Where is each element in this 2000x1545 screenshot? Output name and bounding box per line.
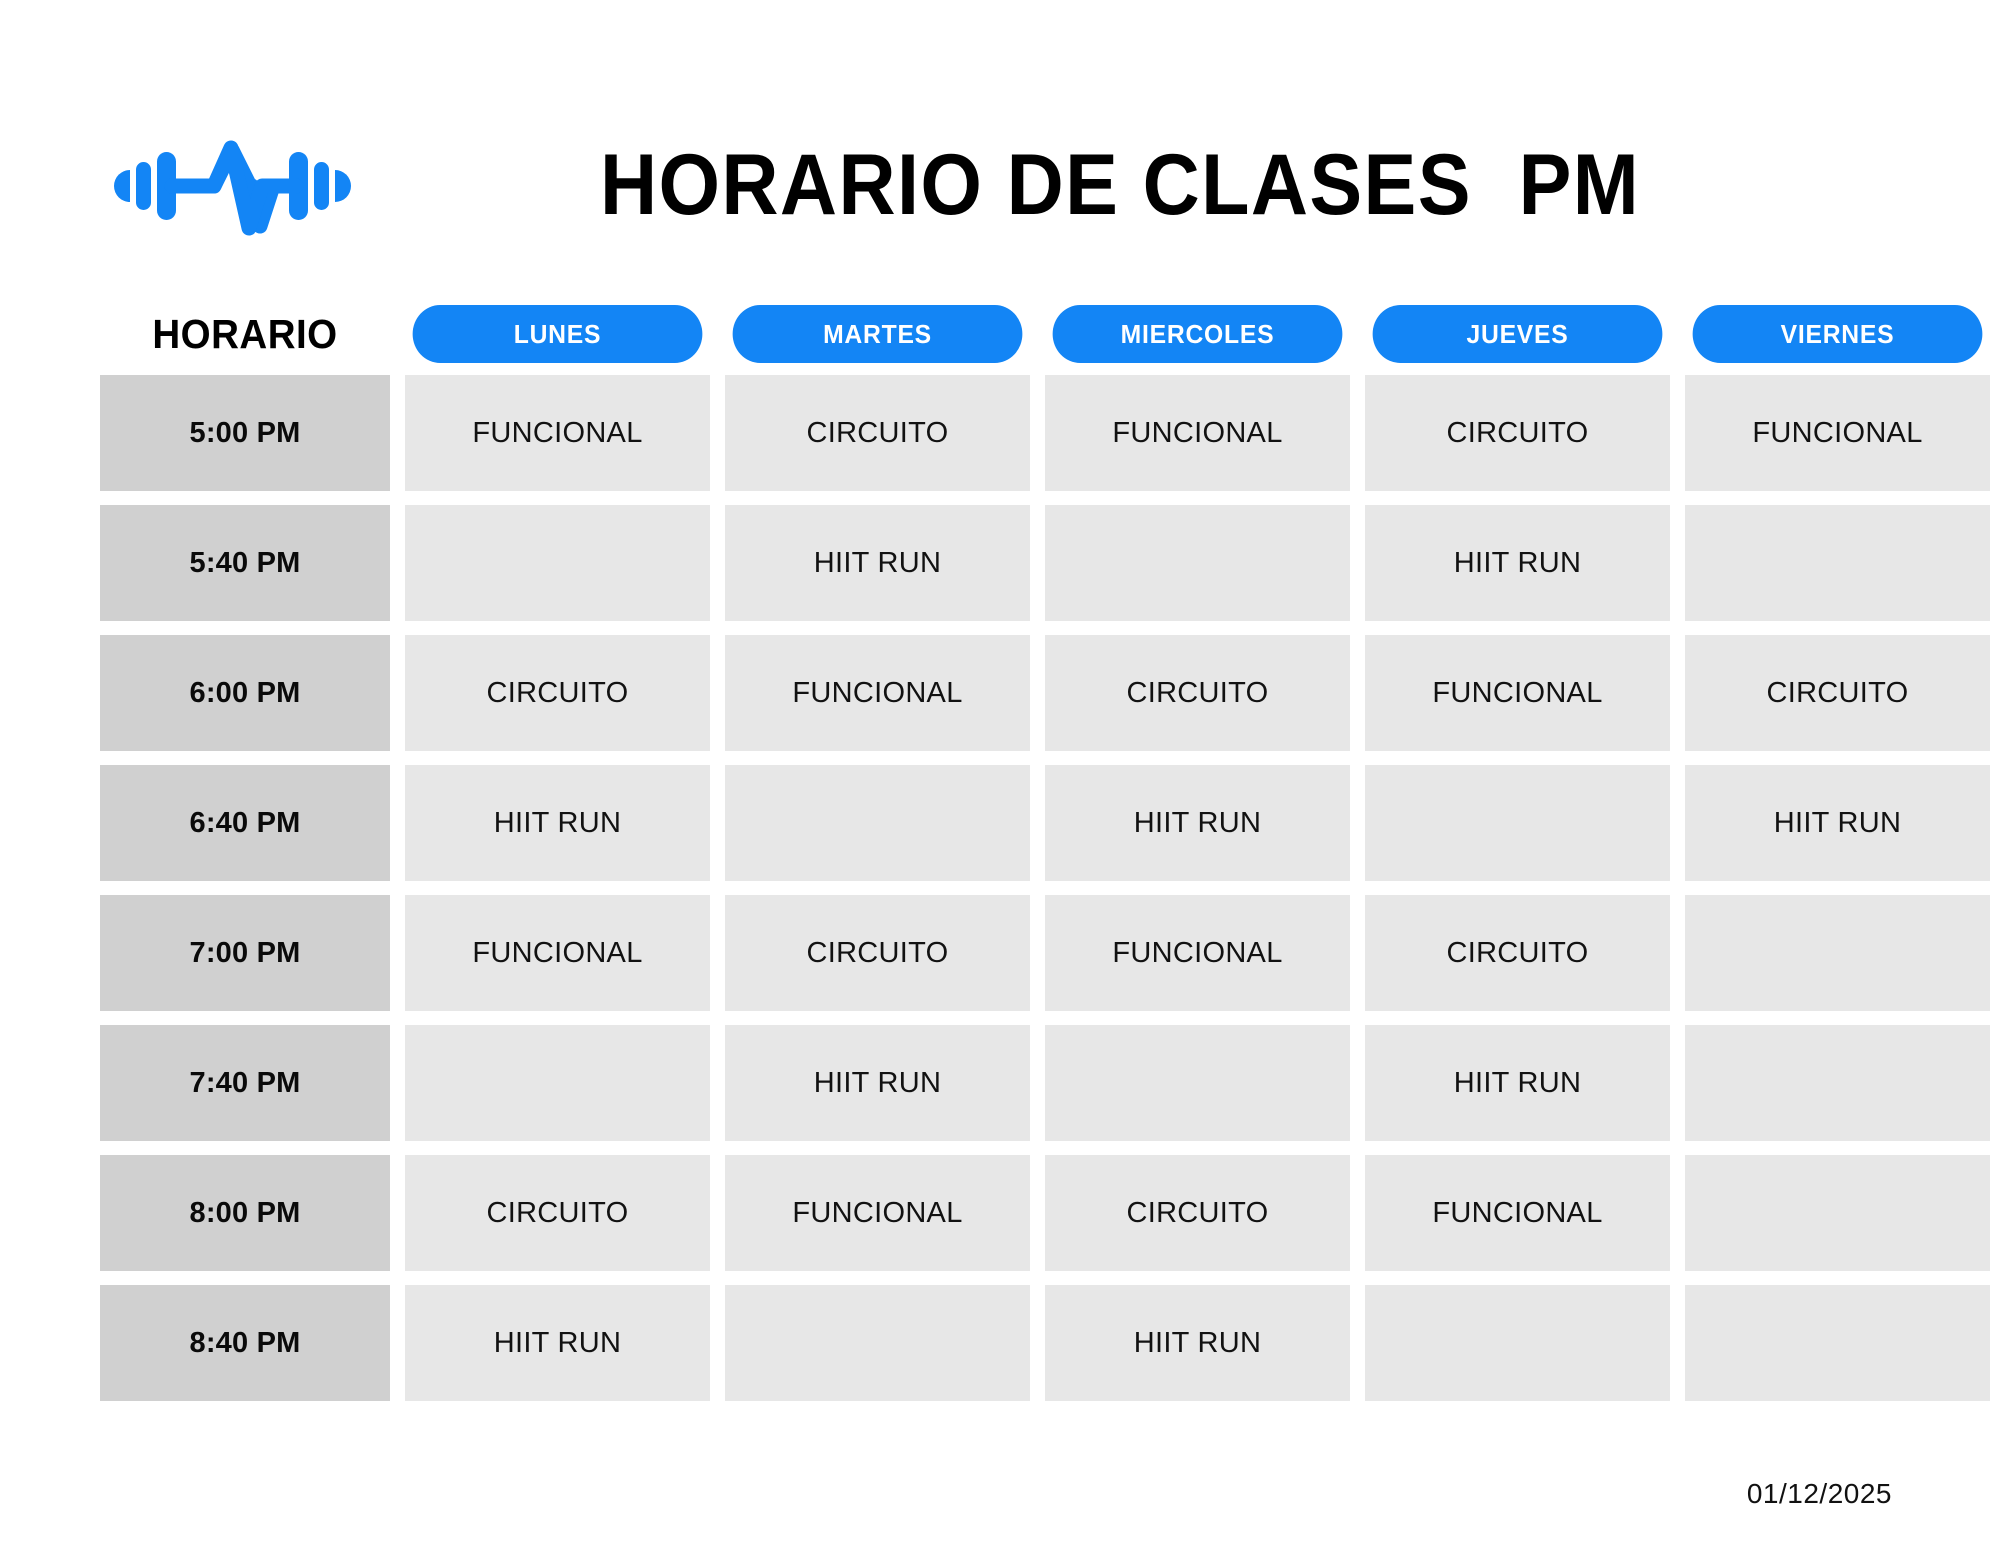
table-row: 5:00 PM FUNCIONAL CIRCUITO FUNCIONAL CIR… xyxy=(100,375,1930,491)
class-cell[interactable] xyxy=(1685,1025,1990,1141)
class-cell[interactable] xyxy=(725,765,1030,881)
day-header-martes[interactable]: MARTES xyxy=(733,305,1023,363)
class-cell[interactable]: CIRCUITO xyxy=(1365,375,1670,491)
class-cell[interactable]: CIRCUITO xyxy=(1045,635,1350,751)
time-label: 7:00 PM xyxy=(100,895,390,1011)
table-row: 8:40 PM HIIT RUN HIIT RUN xyxy=(100,1285,1930,1401)
schedule-page: HORARIO DE CLASES PM HORARIO LUNES MARTE… xyxy=(0,0,2000,1545)
class-cell[interactable]: HIIT RUN xyxy=(1685,765,1990,881)
class-cell[interactable]: FUNCIONAL xyxy=(1365,1155,1670,1271)
class-cell[interactable]: FUNCIONAL xyxy=(405,375,710,491)
time-label: 6:40 PM xyxy=(100,765,390,881)
class-cell[interactable] xyxy=(1365,765,1670,881)
day-header-lunes[interactable]: LUNES xyxy=(413,305,703,363)
class-cell[interactable]: CIRCUITO xyxy=(405,1155,710,1271)
class-cell[interactable]: FUNCIONAL xyxy=(405,895,710,1011)
table-row: 7:40 PM HIIT RUN HIIT RUN xyxy=(100,1025,1930,1141)
class-cell[interactable]: HIIT RUN xyxy=(405,765,710,881)
page-header: HORARIO DE CLASES PM xyxy=(0,120,2000,250)
time-column-header: HORARIO xyxy=(109,305,382,363)
class-cell[interactable]: HIIT RUN xyxy=(1045,1285,1350,1401)
day-header-viernes[interactable]: VIERNES xyxy=(1693,305,1983,363)
class-cell[interactable] xyxy=(1045,505,1350,621)
class-cell[interactable]: CIRCUITO xyxy=(1365,895,1670,1011)
day-header-jueves[interactable]: JUEVES xyxy=(1373,305,1663,363)
class-cell[interactable] xyxy=(405,1025,710,1141)
table-row: 6:40 PM HIIT RUN HIIT RUN HIIT RUN xyxy=(100,765,1930,881)
class-cell[interactable] xyxy=(1685,1155,1990,1271)
table-row: 6:00 PM CIRCUITO FUNCIONAL CIRCUITO FUNC… xyxy=(100,635,1930,751)
dumbbell-pulse-icon xyxy=(110,130,355,240)
class-cell[interactable]: FUNCIONAL xyxy=(725,635,1030,751)
table-row: 5:40 PM HIIT RUN HIIT RUN xyxy=(100,505,1930,621)
class-cell[interactable] xyxy=(1685,895,1990,1011)
class-cell[interactable]: FUNCIONAL xyxy=(725,1155,1030,1271)
time-label: 8:40 PM xyxy=(100,1285,390,1401)
time-label: 6:00 PM xyxy=(100,635,390,751)
footer-date: 01/12/2025 xyxy=(1747,1478,1892,1510)
table-header-row: HORARIO LUNES MARTES MIERCOLES JUEVES VI… xyxy=(100,305,1930,363)
class-cell[interactable] xyxy=(1685,505,1990,621)
class-cell[interactable]: HIIT RUN xyxy=(725,505,1030,621)
class-cell[interactable]: CIRCUITO xyxy=(725,375,1030,491)
class-cell[interactable]: CIRCUITO xyxy=(1685,635,1990,751)
class-cell[interactable]: HIIT RUN xyxy=(1365,505,1670,621)
class-cell[interactable]: FUNCIONAL xyxy=(1365,635,1670,751)
time-label: 5:00 PM xyxy=(100,375,390,491)
page-title: HORARIO DE CLASES PM xyxy=(439,120,1801,250)
schedule-table: HORARIO LUNES MARTES MIERCOLES JUEVES VI… xyxy=(100,305,1930,1415)
class-cell[interactable] xyxy=(725,1285,1030,1401)
class-cell[interactable]: HIIT RUN xyxy=(725,1025,1030,1141)
class-cell[interactable] xyxy=(405,505,710,621)
class-cell[interactable]: HIIT RUN xyxy=(1045,765,1350,881)
class-cell[interactable] xyxy=(1045,1025,1350,1141)
table-row: 8:00 PM CIRCUITO FUNCIONAL CIRCUITO FUNC… xyxy=(100,1155,1930,1271)
class-cell[interactable]: HIIT RUN xyxy=(1365,1025,1670,1141)
class-cell[interactable]: FUNCIONAL xyxy=(1045,375,1350,491)
class-cell[interactable]: CIRCUITO xyxy=(725,895,1030,1011)
day-header-miercoles[interactable]: MIERCOLES xyxy=(1053,305,1343,363)
class-cell[interactable]: HIIT RUN xyxy=(405,1285,710,1401)
class-cell[interactable]: CIRCUITO xyxy=(1045,1155,1350,1271)
time-label: 8:00 PM xyxy=(100,1155,390,1271)
class-cell[interactable] xyxy=(1365,1285,1670,1401)
time-label: 5:40 PM xyxy=(100,505,390,621)
time-label: 7:40 PM xyxy=(100,1025,390,1141)
class-cell[interactable]: CIRCUITO xyxy=(405,635,710,751)
class-cell[interactable]: FUNCIONAL xyxy=(1045,895,1350,1011)
class-cell[interactable]: FUNCIONAL xyxy=(1685,375,1990,491)
class-cell[interactable] xyxy=(1685,1285,1990,1401)
table-row: 7:00 PM FUNCIONAL CIRCUITO FUNCIONAL CIR… xyxy=(100,895,1930,1011)
